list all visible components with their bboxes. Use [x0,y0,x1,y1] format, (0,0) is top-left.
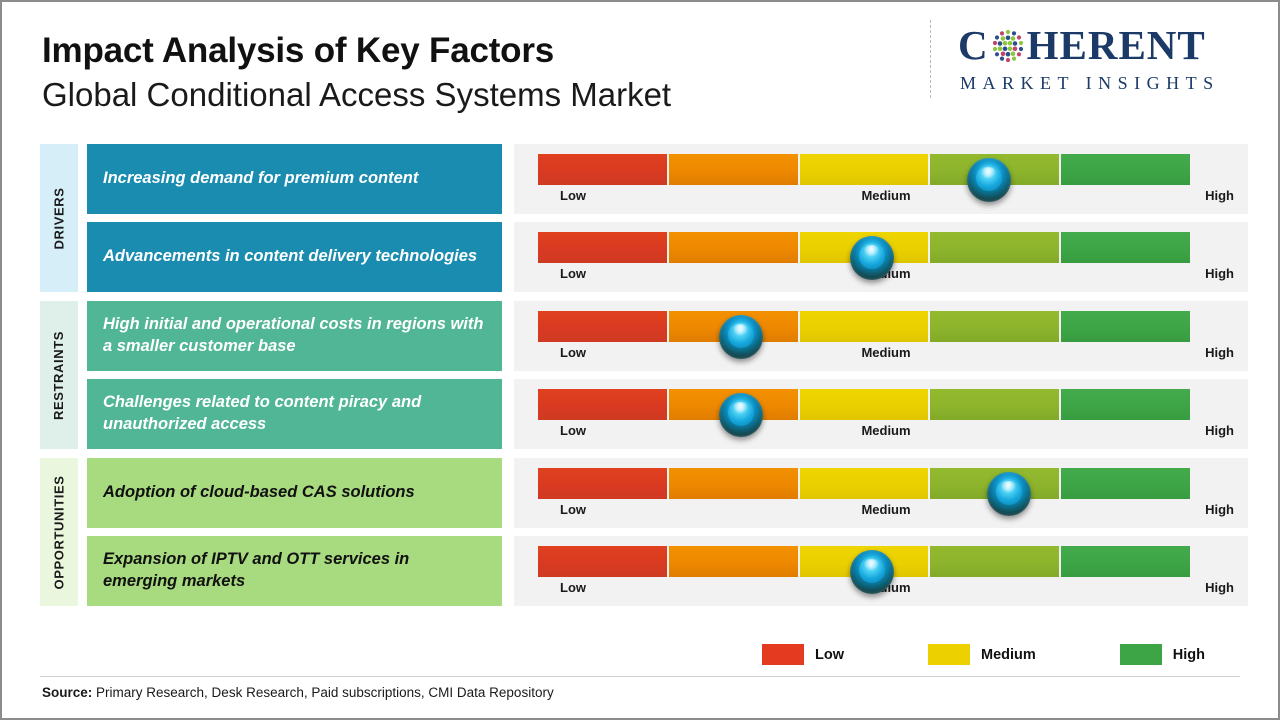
gauge-scale: Low Medium High [538,502,1234,522]
scale-label-low: Low [560,580,586,595]
scale-label-low: Low [560,502,586,517]
impact-gauge[interactable]: Low Medium High [514,379,1248,449]
impact-matrix: DRIVERS Increasing demand for premium co… [40,144,1248,615]
gauge-segment-low [538,546,669,577]
page-title: Impact Analysis of Key Factors [42,30,902,71]
source-value: Primary Research, Desk Research, Paid su… [96,685,554,700]
page-subtitle: Global Conditional Access Systems Market [42,75,902,115]
impact-marker[interactable] [719,315,763,359]
scale-label-high: High [1205,580,1234,595]
category-label-restraints: RESTRAINTS [52,330,67,419]
category-block-restraints: RESTRAINTS High initial and operational … [40,301,1248,449]
gauge-segment-mid-high [930,389,1061,420]
gauge-segment-high [1061,389,1192,420]
impact-gauge[interactable]: Low Medium High [514,144,1248,214]
gauge-scale: Low Medium High [538,188,1234,208]
gauge-bar [538,232,1192,263]
impact-marker[interactable] [967,158,1011,202]
table-row: Challenges related to content piracy and… [87,379,1248,449]
legend-label-medium: Medium [981,647,1036,663]
category-label-drivers: DRIVERS [52,187,67,249]
scale-label-medium: Medium [861,423,910,438]
table-row: Advancements in content delivery technol… [87,222,1248,292]
gauge-segment-mid-high [930,311,1061,342]
scale-label-low: Low [560,266,586,281]
logo-letters-herent: HERENT [1027,25,1206,66]
gauge-segment-mid-high [930,546,1061,577]
gauge-segment-low [538,468,669,499]
category-block-drivers: DRIVERS Increasing demand for premium co… [40,144,1248,292]
footer-divider [40,676,1240,677]
gauge-segment-mid-high [930,232,1061,263]
scale-label-low: Low [560,345,586,360]
gauge-bar [538,468,1192,499]
gauge-segment-high [1061,311,1192,342]
scale-label-high: High [1205,188,1234,203]
impact-gauge[interactable]: Low Medium High [514,222,1248,292]
scale-label-low: Low [560,423,586,438]
legend-item-low: Low [762,644,844,665]
factor-label: Expansion of IPTV and OTT services in em… [87,536,502,606]
legend-label-low: Low [815,647,844,663]
impact-gauge[interactable]: Low Medium High [514,301,1248,371]
legend-swatch-medium [928,644,970,665]
legend-swatch-high [1120,644,1162,665]
category-tab-opportunities: OPPORTUNITIES [40,458,78,606]
scale-label-medium: Medium [861,502,910,517]
gauge-segment-low-mid [669,232,800,263]
gauge-segment-low-mid [669,546,800,577]
scale-label-high: High [1205,502,1234,517]
gauge-segment-low-mid [669,154,800,185]
category-tab-restraints: RESTRAINTS [40,301,78,449]
impact-gauge[interactable]: Low Medium High [514,458,1248,528]
factor-label: Advancements in content delivery technol… [87,222,502,292]
factor-label: Increasing demand for premium content [87,144,502,214]
gauge-segment-medium [800,154,931,185]
brand-logo: C [930,16,1260,102]
gauge-segment-low [538,232,669,263]
gauge-bar [538,154,1192,185]
scale-label-medium: Medium [861,188,910,203]
scale-label-high: High [1205,345,1234,360]
table-row: Adoption of cloud-based CAS solutions Lo… [87,458,1248,528]
table-row: Increasing demand for premium content Lo… [87,144,1248,214]
logo-tagline: MARKET INSIGHTS [960,73,1258,94]
source-note: Source: Primary Research, Desk Research,… [42,685,554,700]
logo-letter-c: C [958,25,989,66]
factor-label: Adoption of cloud-based CAS solutions [87,458,502,528]
gauge-segment-low [538,154,669,185]
logo-divider [930,20,931,98]
footer: Source: Primary Research, Desk Research,… [2,676,1278,704]
gauge-segment-medium [800,468,931,499]
scale-label-low: Low [560,188,586,203]
category-tab-drivers: DRIVERS [40,144,78,292]
gauge-segment-high [1061,232,1192,263]
header: Impact Analysis of Key Factors Global Co… [42,30,902,115]
impact-marker[interactable] [850,236,894,280]
logo-wordmark: C [958,22,1258,68]
impact-gauge[interactable]: Low Medium High [514,536,1248,606]
gauge-segment-high [1061,154,1192,185]
legend: Low Medium High [762,644,1205,665]
slide-root: Impact Analysis of Key Factors Global Co… [0,0,1280,720]
globe-dots-icon [990,28,1026,64]
legend-label-high: High [1173,647,1205,663]
gauge-segment-high [1061,546,1192,577]
table-row: High initial and operational costs in re… [87,301,1248,371]
gauge-segment-medium [800,389,931,420]
factor-label: Challenges related to content piracy and… [87,379,502,449]
gauge-scale: Low Medium High [538,423,1234,443]
factor-label: High initial and operational costs in re… [87,301,502,371]
gauge-bar [538,546,1192,577]
scale-label-medium: Medium [861,345,910,360]
source-label: Source: [42,685,92,700]
legend-item-medium: Medium [928,644,1036,665]
category-block-opportunities: OPPORTUNITIES Adoption of cloud-based CA… [40,458,1248,606]
scale-label-high: High [1205,423,1234,438]
legend-item-high: High [1120,644,1205,665]
gauge-segment-low-mid [669,468,800,499]
gauge-bar [538,389,1192,420]
impact-marker[interactable] [719,393,763,437]
impact-marker[interactable] [850,550,894,594]
gauge-segment-high [1061,468,1192,499]
impact-marker[interactable] [987,472,1031,516]
legend-swatch-low [762,644,804,665]
gauge-segment-low [538,389,669,420]
category-label-opportunities: OPPORTUNITIES [52,475,67,589]
gauge-segment-medium [800,311,931,342]
gauge-segment-low [538,311,669,342]
scale-label-high: High [1205,266,1234,281]
table-row: Expansion of IPTV and OTT services in em… [87,536,1248,606]
gauge-bar [538,311,1192,342]
gauge-scale: Low Medium High [538,345,1234,365]
